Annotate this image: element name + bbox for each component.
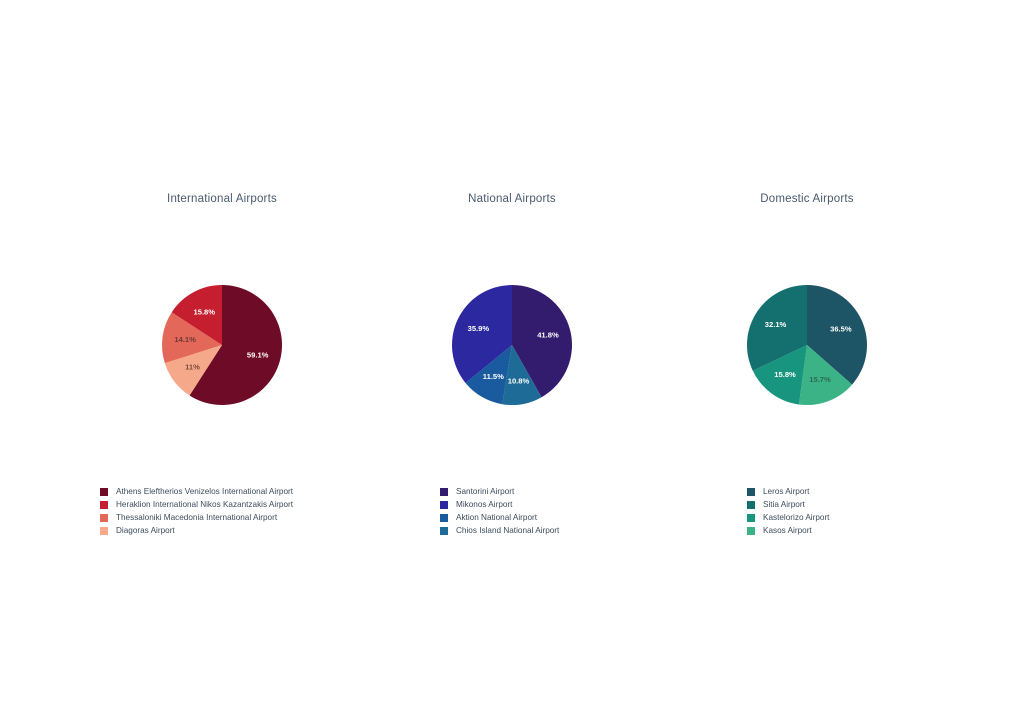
legend-item-label: Chios Island National Airport	[456, 524, 559, 537]
legend-swatch-icon	[747, 488, 755, 496]
pie-domestic: 36.5%15.7%15.8%32.1%	[657, 225, 957, 475]
legend-item[interactable]: Heraklion International Nikos Kazantzaki…	[100, 498, 293, 511]
chart-panel-international: International Airports 59.1%11%14.1%15.8…	[72, 185, 372, 585]
legend-swatch-icon	[440, 527, 448, 535]
slice-percent-label: 36.5%	[830, 325, 852, 334]
legend-swatch-icon	[100, 488, 108, 496]
legend-international: Athens Eleftherios Venizelos Internation…	[72, 485, 400, 540]
legend-item-label: Kasos Airport	[763, 524, 812, 537]
legend-swatch-icon	[440, 488, 448, 496]
pie-svg-international: 59.1%11%14.1%15.8%	[72, 225, 372, 475]
slice-percent-label: 15.8%	[774, 370, 796, 379]
chart-title-international: International Airports	[72, 193, 372, 205]
chart-panel-domestic: Domestic Airports 36.5%15.7%15.8%32.1% L…	[657, 185, 957, 585]
pie-national: 41.8%10.8%11.5%35.9%	[362, 225, 662, 475]
legend-item-label: Diagoras Airport	[116, 524, 175, 537]
legend-swatch-icon	[747, 501, 755, 509]
legend-item[interactable]: Mikonos Airport	[440, 498, 559, 511]
chart-panel-national: National Airports 41.8%10.8%11.5%35.9% S…	[362, 185, 662, 585]
pie-svg-domestic: 36.5%15.7%15.8%32.1%	[657, 225, 957, 475]
legend-item[interactable]: Diagoras Airport	[100, 524, 293, 537]
legend-item-label: Thessaloniki Macedonia International Air…	[116, 511, 277, 524]
legend-swatch-icon	[100, 514, 108, 522]
chart-title-national: National Airports	[362, 193, 662, 205]
legend-item-label: Sitia Airport	[763, 498, 805, 511]
legend-item[interactable]: Leros Airport	[747, 485, 829, 498]
legend-item[interactable]: Aktion National Airport	[440, 511, 559, 524]
legend-item-label: Mikonos Airport	[456, 498, 512, 511]
slice-percent-label: 10.8%	[508, 377, 530, 386]
legend-swatch-icon	[100, 527, 108, 535]
legend-item[interactable]: Chios Island National Airport	[440, 524, 559, 537]
slice-percent-label: 14.1%	[174, 335, 196, 344]
pie-international: 59.1%11%14.1%15.8%	[72, 225, 372, 475]
slice-percent-label: 41.8%	[537, 331, 559, 340]
slice-percent-label: 11.5%	[483, 372, 504, 381]
legend-swatch-icon	[747, 527, 755, 535]
slice-percent-label: 15.7%	[809, 375, 831, 384]
legend-item-label: Leros Airport	[763, 485, 809, 498]
pie-svg-national: 41.8%10.8%11.5%35.9%	[362, 225, 662, 475]
chart-title-domestic: Domestic Airports	[657, 193, 957, 205]
legend-item[interactable]: Athens Eleftherios Venizelos Internation…	[100, 485, 293, 498]
legend-item[interactable]: Kastelorizo Airport	[747, 511, 829, 524]
legend-swatch-icon	[440, 501, 448, 509]
slice-percent-label: 15.8%	[194, 307, 216, 316]
legend-item-label: Aktion National Airport	[456, 511, 537, 524]
legend-item-label: Athens Eleftherios Venizelos Internation…	[116, 485, 293, 498]
legend-item[interactable]: Santorini Airport	[440, 485, 559, 498]
slice-percent-label: 59.1%	[247, 350, 269, 359]
legend-item-label: Heraklion International Nikos Kazantzaki…	[116, 498, 293, 511]
legend-domestic: Leros AirportSitia AirportKastelorizo Ai…	[657, 485, 1024, 540]
legend-swatch-icon	[440, 514, 448, 522]
legend-item[interactable]: Sitia Airport	[747, 498, 829, 511]
legend-items: Leros AirportSitia AirportKastelorizo Ai…	[747, 485, 829, 537]
legend-item-label: Kastelorizo Airport	[763, 511, 829, 524]
legend-swatch-icon	[747, 514, 755, 522]
slice-percent-label: 35.9%	[468, 324, 490, 333]
pie-chart-figure: International Airports 59.1%11%14.1%15.8…	[0, 0, 1024, 724]
legend-items: Athens Eleftherios Venizelos Internation…	[100, 485, 293, 537]
slice-percent-label: 11%	[185, 363, 200, 372]
legend-item[interactable]: Thessaloniki Macedonia International Air…	[100, 511, 293, 524]
legend-item-label: Santorini Airport	[456, 485, 514, 498]
legend-swatch-icon	[100, 501, 108, 509]
slice-percent-label: 32.1%	[765, 320, 787, 329]
legend-item[interactable]: Kasos Airport	[747, 524, 829, 537]
legend-items: Santorini AirportMikonos AirportAktion N…	[440, 485, 559, 537]
